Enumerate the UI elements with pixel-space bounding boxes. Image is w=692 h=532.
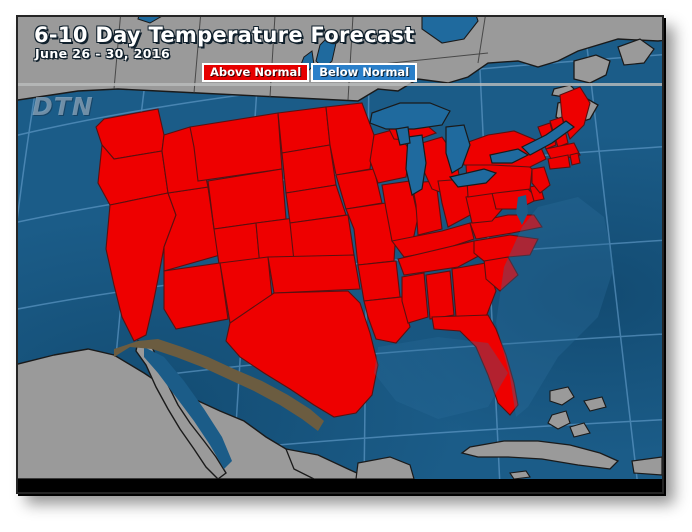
state-mississippi [402,273,428,323]
region-maritimes [574,55,610,83]
region-bahamas-4 [570,423,590,437]
state-texas [226,291,378,417]
region-jamaica [510,471,530,479]
image-frame: DTN 6-10 Day Temperature Forecast June 2… [16,15,664,494]
state-arkansas [358,261,400,301]
state-alabama [426,271,454,319]
water-lake-superior [370,103,450,129]
region-newfoundland [618,39,654,65]
forecast-map-image: DTN 6-10 Day Temperature Forecast June 2… [0,0,692,532]
map-canvas: DTN 6-10 Day Temperature Forecast June 2… [18,17,662,479]
state-kansas [290,215,354,261]
header-separator [18,83,662,86]
legend-item-above-normal[interactable]: Above Normal [202,63,309,82]
region-bahamas-1 [550,387,574,405]
legend-item-below-normal[interactable]: Below Normal [311,63,417,82]
region-bahamas-2 [584,397,606,411]
region-bahamas-3 [548,411,570,429]
page-title: 6-10 Day Temperature Forecast [34,23,415,47]
page-subtitle: June 26 - 30, 2016 [35,46,170,61]
ocean-shelf-gulf [374,337,508,419]
region-hispaniola [632,457,662,475]
dtn-watermark: DTN [32,92,94,121]
state-oklahoma [268,255,360,293]
legend: Above Normal Below Normal [202,63,417,82]
region-yucatan [356,457,414,479]
region-cuba [462,441,618,469]
state-arizona [164,263,228,329]
state-rhode-island [570,153,580,165]
geography-layer [18,17,662,479]
